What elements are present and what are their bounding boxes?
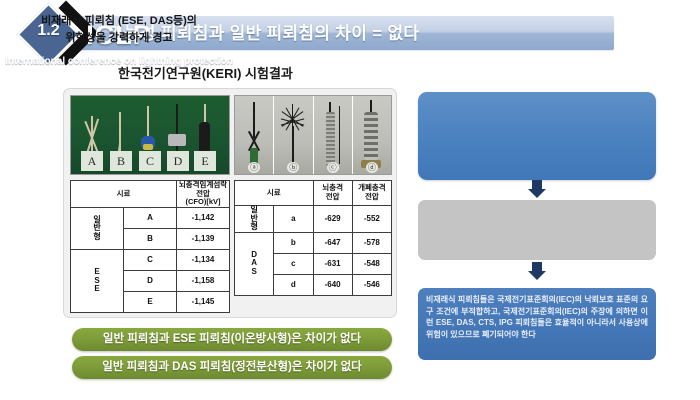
detail-text: 비재래식 피뢰침들은 국제전기표준회의(IEC)의 낙뢰보호 표준의 요구 조건…: [426, 294, 648, 340]
specimen-tag-e: E: [194, 151, 216, 171]
switching-c: -548: [352, 253, 391, 274]
das-specimen-photo: ⓐ ⓑ ⓒ ⓓ: [234, 95, 392, 175]
table-row: 일 반 형 A -1,142: [71, 207, 230, 228]
switching-b: -578: [352, 232, 391, 253]
header-sample: 시료: [235, 181, 314, 206]
das-tag-d: ⓓ: [366, 162, 378, 173]
header-switching-line2: 전압: [353, 193, 391, 202]
impulse-c: -631: [313, 253, 352, 274]
header-sample: 시료: [71, 181, 177, 208]
sample-c: C: [124, 249, 177, 270]
das-photo-cell-c: ⓒ: [314, 96, 353, 174]
group-label-das: D A S: [235, 232, 274, 295]
sample-d: D: [124, 270, 177, 291]
das-photo-cell-a: ⓐ: [235, 96, 274, 174]
group-label-ese: E S E: [71, 249, 124, 312]
das-panel: ⓐ ⓑ ⓒ ⓓ: [234, 95, 392, 313]
header-impulse: 뇌충격 전압: [313, 181, 352, 206]
cfo-e: -1,145: [177, 291, 230, 312]
impulse-b: -647: [313, 232, 352, 253]
warning-line-1: 비재래식 피뢰침 (ESE, DAS등)의: [0, 13, 238, 30]
header-switching: 개폐충격 전압: [352, 181, 391, 206]
table-header-row: 시료 뇌충격 전압 개폐충격 전압: [235, 181, 392, 206]
warning-box: [418, 200, 656, 260]
ese-specimen-photo: A B C D E: [70, 95, 230, 175]
iclp-box: [418, 92, 656, 180]
header-cfo: 뇌충격임계섬락전압 (CFO)[kV]: [177, 181, 230, 208]
cfo-b: -1,139: [177, 228, 230, 249]
impulse-a: -629: [313, 206, 352, 233]
header-cfo-line1: 뇌충격임계섬락전압: [177, 181, 229, 198]
ese-data-table: 시료 뇌충격임계섬락전압 (CFO)[kV] 일 반 형 A -1,142 B …: [70, 180, 230, 313]
table-header-row: 시료 뇌충격임계섬락전압 (CFO)[kV]: [71, 181, 230, 208]
das-tag-a: ⓐ: [248, 162, 260, 173]
table-row: D A S b -647 -578: [235, 232, 392, 253]
header-impulse-line2: 전압: [314, 193, 352, 202]
das-tag-b: ⓑ: [287, 162, 299, 173]
conclusion-banner-ese: 일반 피뢰침과 ESE 피뢰침(이온방사형)은 차이가 없다: [72, 328, 392, 351]
switching-a: -552: [352, 206, 391, 233]
conclusion-banner-das: 일반 피뢰침과 DAS 피뢰침(정전분산형)은 차이가 없다: [72, 356, 392, 379]
specimen-tag-b: B: [110, 151, 132, 171]
cfo-d: -1,158: [177, 270, 230, 291]
sample-a: A: [124, 207, 177, 228]
flow-arrow-down-icon: [528, 262, 546, 280]
das-tag-c: ⓒ: [327, 162, 339, 173]
iclp-subtitle: International conference on lightning pr…: [0, 56, 238, 67]
flow-arrow-down-icon: [528, 180, 546, 198]
warning-line-2: 위험성을 강력하게 경고: [0, 30, 238, 47]
header-cfo-line2: (CFO)[kV]: [177, 198, 229, 207]
sample-d: d: [274, 274, 313, 295]
group-label-normal: 일 반 형: [71, 207, 124, 249]
sample-e: E: [124, 291, 177, 312]
table-row: 일 반 형 a -629 -552: [235, 206, 392, 233]
ese-panel: A B C D E 시료 뇌충격임계섬락전압: [70, 95, 230, 313]
sample-c: c: [274, 253, 313, 274]
specimen-tag-c: C: [139, 151, 161, 171]
sample-b: b: [274, 232, 313, 253]
sample-a: a: [274, 206, 313, 233]
das-photo-cell-b: ⓑ: [274, 96, 313, 174]
switching-d: -546: [352, 274, 391, 295]
sample-b: B: [124, 228, 177, 249]
group-label-normal: 일 반 형: [235, 206, 274, 233]
das-data-table: 시료 뇌충격 전압 개폐충격 전압 일 반 형 a -629 -552: [234, 180, 392, 296]
cfo-c: -1,134: [177, 249, 230, 270]
table-row: E S E C -1,134: [71, 249, 230, 270]
das-photo-cell-d: ⓓ: [353, 96, 391, 174]
specimen-tag-d: D: [167, 151, 189, 171]
warning-text: 비재래식 피뢰침 (ESE, DAS등)의 위험성을 강력하게 경고: [0, 13, 238, 47]
specimen-tag-a: A: [81, 151, 103, 171]
test-results-card: A B C D E 시료 뇌충격임계섬락전압: [63, 88, 397, 318]
impulse-d: -640: [313, 274, 352, 295]
cfo-a: -1,142: [177, 207, 230, 228]
